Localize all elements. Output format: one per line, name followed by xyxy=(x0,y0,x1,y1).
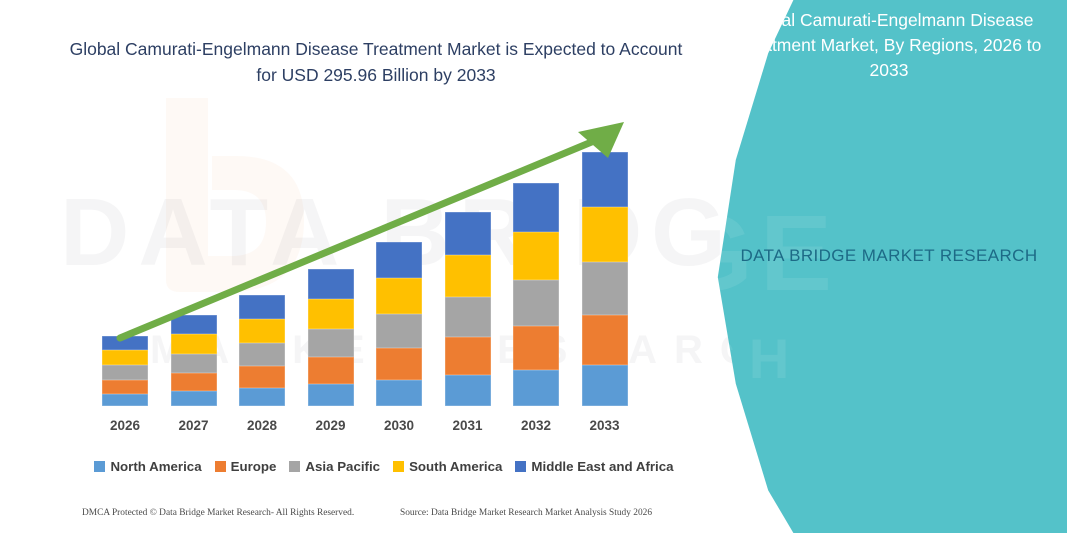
chart-plot-area xyxy=(78,110,690,406)
bar-segment xyxy=(102,336,148,350)
legend-label: Asia Pacific xyxy=(305,459,380,474)
page-title: Global Camurati-Engelmann Disease Treatm… xyxy=(62,36,690,89)
brand-panel: BRIDGE RESEARCH Global Camurati-Engelman… xyxy=(707,0,1067,533)
legend-item[interactable]: Asia Pacific xyxy=(289,459,380,474)
bar-segment xyxy=(376,380,422,406)
legend-label: North America xyxy=(110,459,201,474)
bar-segment xyxy=(308,269,354,299)
bar-segment xyxy=(445,375,491,406)
bar-segment xyxy=(376,242,422,278)
bar-segment xyxy=(582,315,628,365)
legend-swatch xyxy=(215,461,226,472)
bar-segment xyxy=(239,366,285,388)
legend-label: Middle East and Africa xyxy=(531,459,673,474)
bar-segment xyxy=(171,315,217,334)
legend-swatch xyxy=(94,461,105,472)
bar-segment xyxy=(513,326,559,370)
footer: DMCA Protected © Data Bridge Market Rese… xyxy=(0,506,700,528)
footer-copyright: DMCA Protected © Data Bridge Market Rese… xyxy=(82,508,354,518)
x-axis-label: 2031 xyxy=(438,418,498,433)
bar-column xyxy=(171,315,217,406)
bar-column xyxy=(376,242,422,406)
bar-segment xyxy=(513,183,559,232)
bar-segment xyxy=(445,337,491,375)
legend-item[interactable]: South America xyxy=(393,459,502,474)
bar-segment xyxy=(582,365,628,406)
legend-label: Europe xyxy=(231,459,277,474)
legend-swatch xyxy=(289,461,300,472)
bar-segment xyxy=(239,343,285,366)
legend-swatch xyxy=(393,461,404,472)
x-axis-label: 2032 xyxy=(506,418,566,433)
bar-segment xyxy=(308,384,354,406)
bar-segment xyxy=(102,365,148,380)
bar-segment xyxy=(239,388,285,406)
bar-segment xyxy=(239,295,285,319)
bar-segment xyxy=(308,329,354,357)
bar-column xyxy=(513,183,559,406)
footer-source: Source: Data Bridge Market Research Mark… xyxy=(400,508,652,518)
bar-segment xyxy=(102,380,148,394)
bar-segment xyxy=(513,232,559,280)
legend-label: South America xyxy=(409,459,502,474)
bar-segment xyxy=(102,394,148,406)
bar-segment xyxy=(582,207,628,262)
bar-segment xyxy=(376,348,422,380)
bar-segment xyxy=(376,278,422,314)
panel-title: Global Camurati-Engelmann Disease Treatm… xyxy=(731,8,1047,83)
x-axis-label: 2027 xyxy=(164,418,224,433)
x-axis-label: 2029 xyxy=(301,418,361,433)
bar-segment xyxy=(582,262,628,315)
bar-segment xyxy=(308,299,354,329)
bar-column xyxy=(102,336,148,406)
bar-segment xyxy=(582,152,628,207)
panel-brand-text: DATA BRIDGE MARKET RESEARCH xyxy=(737,242,1041,269)
x-axis-labels: 20262027202820292030203120322033 xyxy=(78,418,690,440)
bar-segment xyxy=(308,357,354,384)
legend-swatch xyxy=(515,461,526,472)
bar-column xyxy=(239,295,285,406)
bar-segment xyxy=(445,212,491,255)
x-axis-label: 2033 xyxy=(575,418,635,433)
bar-segment xyxy=(513,280,559,326)
chart-legend: North AmericaEuropeAsia PacificSouth Ame… xyxy=(78,455,690,477)
legend-item[interactable]: Middle East and Africa xyxy=(515,459,673,474)
x-axis-label: 2030 xyxy=(369,418,429,433)
legend-item[interactable]: Europe xyxy=(215,459,277,474)
bar-segment xyxy=(171,391,217,406)
bar-column xyxy=(445,212,491,406)
bar-segment xyxy=(376,314,422,348)
bar-segment xyxy=(102,350,148,365)
x-axis-label: 2026 xyxy=(95,418,155,433)
bar-segment xyxy=(239,319,285,343)
bar-segment xyxy=(171,373,217,391)
bar-segment xyxy=(171,354,217,373)
bar-segment xyxy=(171,334,217,354)
legend-item[interactable]: North America xyxy=(94,459,201,474)
stacked-bars xyxy=(78,110,690,406)
x-axis-label: 2028 xyxy=(232,418,292,433)
bar-column xyxy=(582,152,628,406)
bar-column xyxy=(308,269,354,406)
bar-segment xyxy=(445,255,491,297)
bar-segment xyxy=(445,297,491,337)
bar-segment xyxy=(513,370,559,406)
